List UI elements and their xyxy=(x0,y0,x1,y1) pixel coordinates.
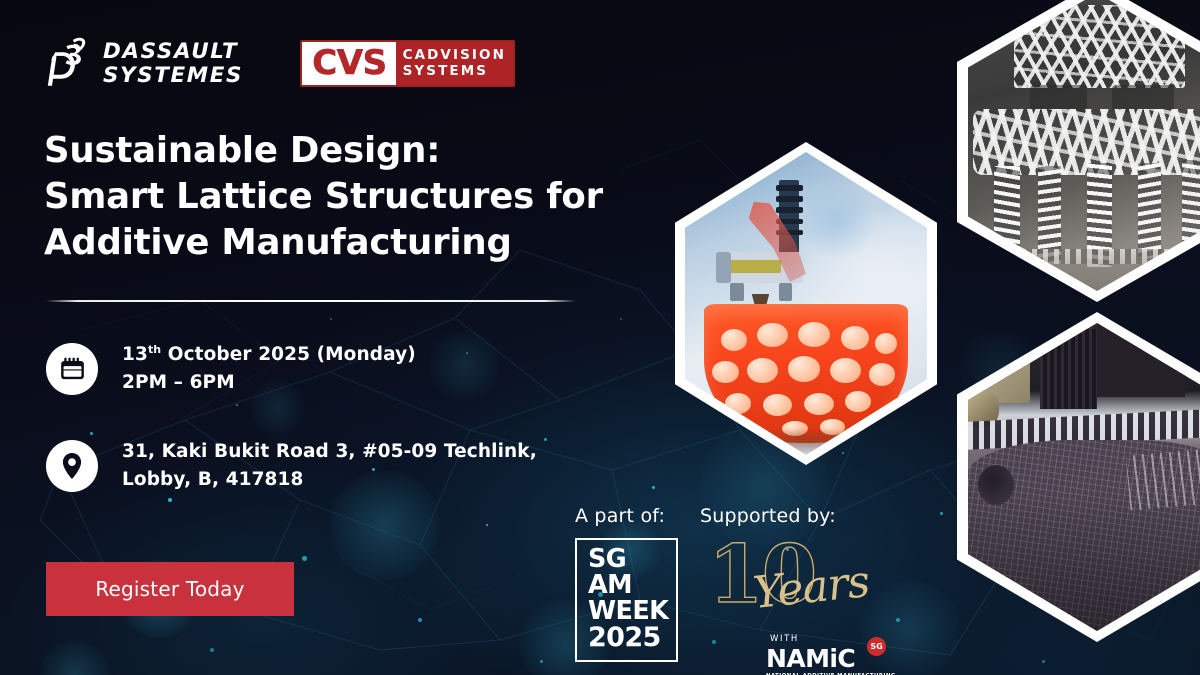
namic-sg-badge: SG xyxy=(867,637,886,656)
dassault-3ds-mark-icon xyxy=(46,36,92,90)
event-date-rest: October 2025 (Monday) xyxy=(161,344,416,365)
register-button-label: Register Today xyxy=(95,577,244,601)
cvs-fullname-block: CADVISION SYSTEMS xyxy=(396,42,513,85)
cvs-abbreviation-block: CVS xyxy=(302,42,395,85)
calendar-icon xyxy=(46,343,98,395)
namic-10-years-logo: 10 Years WITH NAMiC SG NATIONAL ADDITIVE… xyxy=(708,538,883,656)
supported-by-label: Supported by: xyxy=(700,505,836,527)
event-location-row: 31, Kaki Bukit Road 3, #05-09 Techlink, … xyxy=(46,438,537,494)
sgam-line-1: SG AM xyxy=(588,546,665,598)
a-part-of-label: A part of: xyxy=(575,505,665,527)
event-day: 13 xyxy=(122,344,148,365)
dassault-line1: DASSAULT xyxy=(103,40,243,62)
dassault-line2: SYSTEMES xyxy=(103,64,243,86)
hex-image-3d-printer xyxy=(675,142,937,465)
sg-am-week-2025-logo: SG AM WEEK 2025 xyxy=(575,538,678,662)
cvs-line1: CADVISION xyxy=(403,48,506,62)
event-location-text: 31, Kaki Bukit Road 3, #05-09 Techlink, … xyxy=(122,438,537,494)
dassault-systemes-logo: DASSAULT SYSTEMES xyxy=(46,36,240,90)
printed-orange-lattice-bowl xyxy=(704,304,907,443)
namic-wordmark: NAMiC SG NATIONAL ADDITIVE MANUFACTURING… xyxy=(766,646,896,675)
3d-printer-photo xyxy=(685,152,927,455)
brand-logo-row: DASSAULT SYSTEMES CVS CADVISION SYSTEMS xyxy=(46,36,515,90)
location-line-2: Lobby, B, 417818 xyxy=(122,466,537,494)
event-details: 13th October 2025 (Monday) 2PM – 6PM 31,… xyxy=(46,341,537,494)
lattice-mesh-photo xyxy=(968,323,1200,631)
headline-line-2: Smart Lattice Structures for xyxy=(44,176,603,217)
with-label: WITH xyxy=(770,634,799,644)
event-date-text: 13th October 2025 (Monday) 2PM – 6PM xyxy=(122,341,416,397)
event-date-row: 13th October 2025 (Monday) 2PM – 6PM xyxy=(46,341,537,397)
chair-image-content xyxy=(968,0,1200,291)
a-part-of-block: A part of: SG AM WEEK 2025 xyxy=(575,505,678,662)
cvs-abbr-text: CVS xyxy=(312,46,386,80)
hex-image-lattice-chair xyxy=(957,0,1200,302)
mesh-image-content xyxy=(968,323,1200,631)
title-divider xyxy=(46,300,576,302)
location-line-1: 31, Kaki Bukit Road 3, #05-09 Techlink, xyxy=(122,438,537,466)
map-pin-icon xyxy=(46,440,98,492)
page-title: Sustainable Design: Smart Lattice Struct… xyxy=(44,128,619,266)
sgam-line-3: 2025 xyxy=(588,624,665,652)
event-day-ordinal: th xyxy=(148,343,161,356)
hex-image-lattice-mesh xyxy=(957,312,1200,642)
lattice-chair-photo xyxy=(968,0,1200,291)
printer-extruder-head xyxy=(716,182,852,321)
event-time: 2PM – 6PM xyxy=(122,369,416,397)
register-today-button[interactable]: Register Today xyxy=(46,562,294,616)
bowl-floor-shadow xyxy=(700,428,913,455)
headline-line-3: Additive Manufacturing xyxy=(44,222,512,263)
cadvision-systems-logo: CVS CADVISION SYSTEMS xyxy=(300,40,515,87)
headline-line-1: Sustainable Design: xyxy=(44,130,440,171)
supported-by-block: Supported by: 10 Years WITH NAMiC SG NAT… xyxy=(700,505,883,656)
sgam-line-2: WEEK xyxy=(588,598,665,624)
anniversary-word: Years xyxy=(751,556,872,619)
printer-image-content xyxy=(685,152,927,455)
dassault-wordmark: DASSAULT SYSTEMES xyxy=(103,40,240,86)
partner-logos: A part of: SG AM WEEK 2025 Supported by:… xyxy=(575,505,883,662)
event-banner: DASSAULT SYSTEMES CVS CADVISION SYSTEMS … xyxy=(0,0,1200,675)
left-content-column: DASSAULT SYSTEMES CVS CADVISION SYSTEMS … xyxy=(42,0,642,675)
cvs-line2: SYSTEMS xyxy=(403,64,506,78)
